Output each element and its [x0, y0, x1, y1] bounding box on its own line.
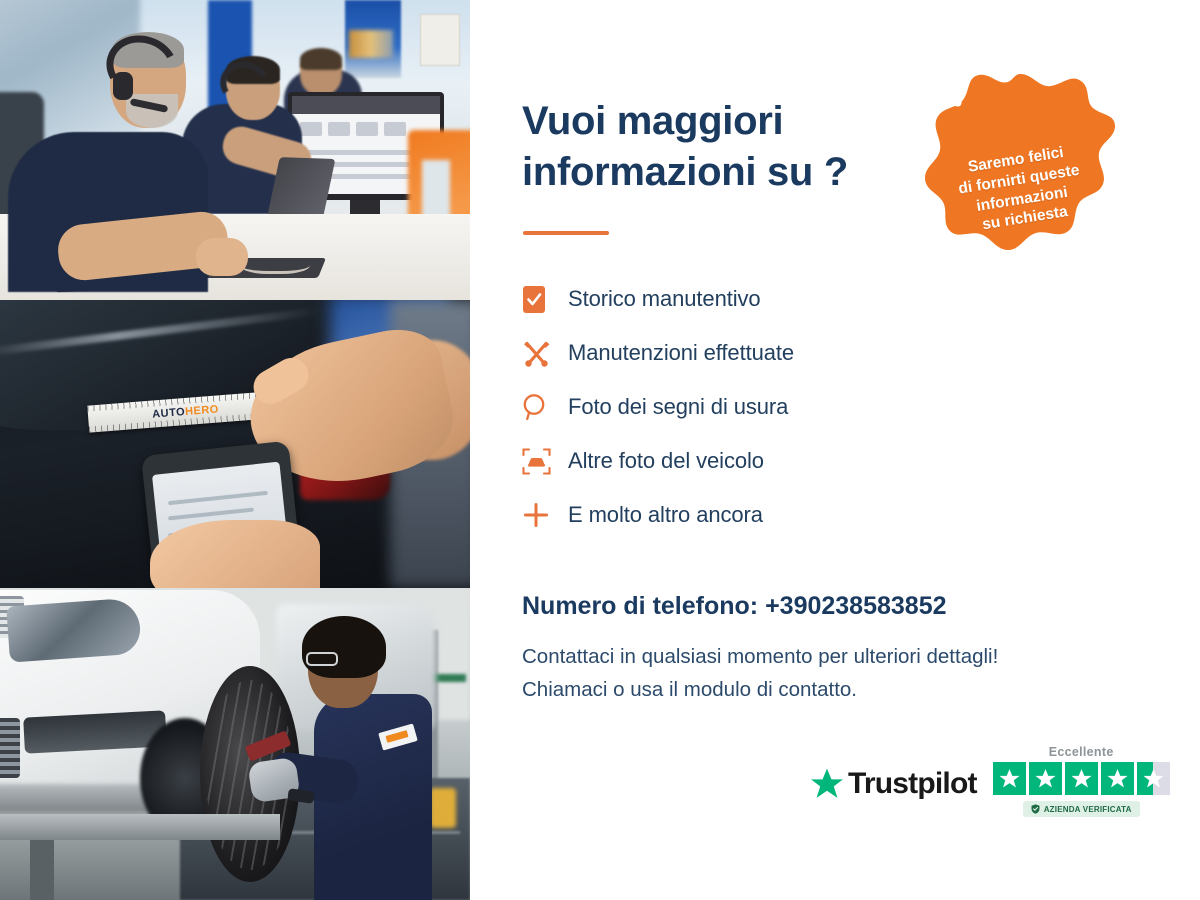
star-filled — [1065, 762, 1098, 795]
verified-company-text: AZIENDA VERIFICATA — [1044, 805, 1132, 814]
vehicle-lift-leg — [30, 840, 54, 900]
car-headlight — [6, 597, 142, 662]
magnifier-icon — [522, 390, 568, 424]
trustpilot-logo: Trustpilot — [810, 767, 977, 801]
monitor-thumb — [356, 122, 378, 136]
feature-list: Storico manutentivo Manutenzioni effettu… — [522, 272, 972, 542]
car-inspection-ruler-photo: AUTOHERO — [0, 300, 470, 588]
plus-icon — [522, 498, 568, 532]
monitor-thumb — [384, 122, 406, 136]
verified-company-badge: AZIENDA VERIFICATA — [1023, 801, 1140, 817]
monitor-thumb — [300, 122, 322, 136]
car-side-vent — [0, 718, 20, 778]
desk-cable — [240, 252, 310, 274]
page-title-line-2: informazioni su ? — [522, 150, 848, 194]
autohero-logo-hero: HERO — [185, 403, 220, 418]
vehicle-lift-platform — [0, 814, 280, 840]
availability-badge: Saremo felici di fornirti queste informa… — [925, 72, 1115, 294]
trustpilot-star-icon — [810, 767, 844, 801]
agent-front-hand — [196, 238, 248, 276]
trustpilot-brand-name: Trustpilot — [848, 767, 977, 801]
trustpilot-rating: Eccellente — [993, 745, 1170, 817]
phone-number[interactable]: +390238583852 — [765, 592, 946, 620]
car-scan-icon — [522, 444, 568, 478]
monitor-toolbar — [292, 96, 440, 114]
feature-item-storico-manutentivo: Storico manutentivo — [522, 272, 972, 326]
page-title: Vuoi maggiori informazioni su ? — [522, 96, 962, 198]
autohero-logo-auto: AUTO — [152, 406, 186, 421]
photo-gallery-column: AUTOHERO — [0, 0, 470, 900]
star-filled — [1101, 762, 1134, 795]
feature-item-molto-altro: E molto altro ancora — [522, 488, 972, 542]
feature-label: Manutenzioni effettuate — [568, 340, 794, 366]
phone-number-heading: Numero di telefono: +390238583852 — [522, 592, 947, 621]
trustpilot-widget[interactable]: Trustpilot Eccellente — [810, 745, 1170, 817]
call-center-agents-photo — [0, 0, 470, 300]
contact-hint-line-2: Chiamaci o usa il modulo di contatto. — [522, 678, 857, 702]
phone-label: Numero di telefono: — [522, 592, 758, 620]
contact-hint-line-1: Contattaci in qualsiasi momento per ulte… — [522, 645, 998, 669]
mechanic-wheel-photo — [0, 588, 470, 900]
feature-item-manutenzioni-effettuate: Manutenzioni effettuate — [522, 326, 972, 380]
document-check-icon — [522, 282, 568, 316]
mechanic-hair — [302, 616, 386, 678]
feature-label: Storico manutentivo — [568, 286, 761, 312]
headset-icon — [925, 72, 965, 112]
wall-notice — [420, 14, 460, 66]
star-filled — [993, 762, 1026, 795]
trustpilot-stars — [993, 762, 1170, 795]
crossed-tools-icon — [522, 336, 568, 370]
shield-check-icon — [1031, 804, 1040, 814]
star-filled — [1029, 762, 1062, 795]
feature-item-altre-foto-veicolo: Altre foto del veicolo — [522, 434, 972, 488]
feature-label: Altre foto del veicolo — [568, 448, 764, 474]
feature-label: Foto dei segni di usura — [568, 394, 788, 420]
trustpilot-rating-label: Eccellente — [1049, 745, 1114, 759]
workshop-yellow-object — [430, 788, 456, 828]
feature-item-foto-segni-usura: Foto dei segni di usura — [522, 380, 972, 434]
title-divider — [523, 231, 609, 235]
agent-back-hair — [300, 48, 342, 70]
headset-earcup — [113, 72, 133, 100]
page-title-line-1: Vuoi maggiori — [522, 99, 783, 143]
feature-label: E molto altro ancora — [568, 502, 763, 528]
mechanic-glasses — [306, 652, 338, 666]
info-panel: Vuoi maggiori informazioni su ? Saremo f… — [470, 0, 1200, 900]
monitor-thumb — [328, 122, 350, 136]
star-half — [1137, 762, 1170, 795]
wall-poster-image — [349, 30, 393, 58]
